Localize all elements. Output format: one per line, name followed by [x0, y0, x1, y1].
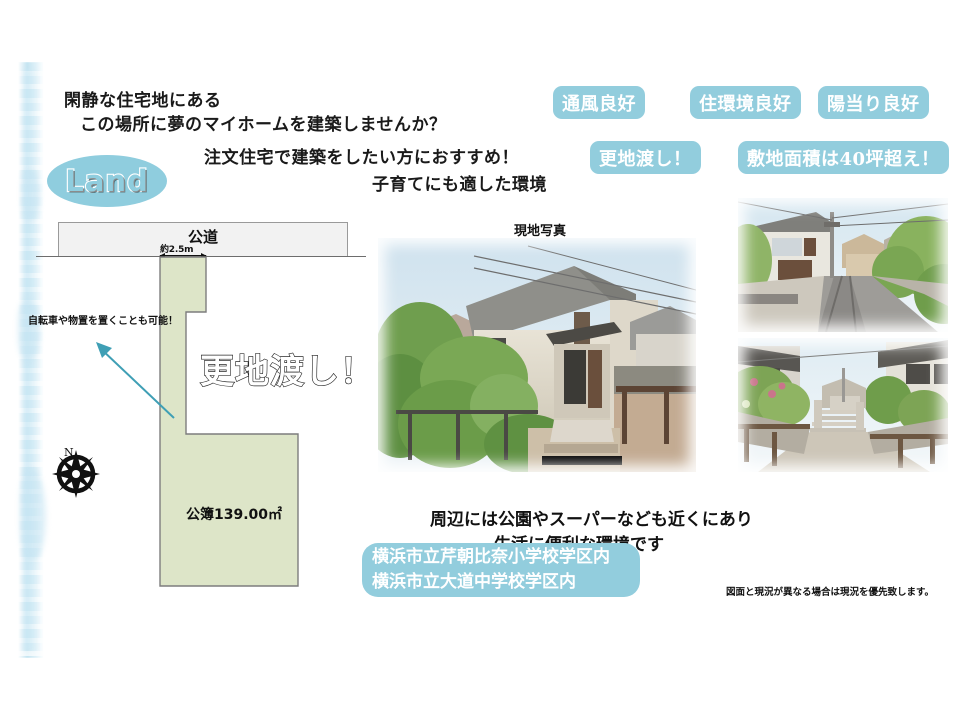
feature-pill-sunlight: 陽当り良好 — [818, 86, 929, 119]
property-flyer-page: 閑静な住宅地にある この場所に夢のマイホームを建築しませんか？ 注文住宅で建築を… — [0, 0, 960, 720]
vacant-land-stamp-text: 更地渡し！ — [200, 344, 375, 393]
compass-rose-icon — [48, 444, 104, 500]
land-logo-text: Land — [65, 164, 148, 198]
land-plot-diagram: 公道 約2.5m 更地渡し！ 公簿139.00㎡ 自転車や物置を置くことも可能！ — [36, 222, 366, 602]
site-photo-caption: 現地写真 — [470, 220, 610, 239]
site-photo-street-bottom — [738, 338, 948, 472]
headline-line-2: この場所に夢のマイホームを建築しませんか？ — [80, 110, 446, 135]
disclaimer-text: 図面と現況が異なる場合は現況を優先致します。 — [726, 584, 934, 598]
feature-pill-vacant-land: 更地渡し！ — [590, 141, 701, 174]
headline-line-1: 閑静な住宅地にある — [64, 86, 222, 111]
bottom-copy-line-1: 周辺には公園やスーパーなども近くにあり — [430, 505, 753, 530]
feature-pill-land-area: 敷地面積は40坪超え！ — [738, 141, 949, 174]
school-district-junior-high: 横浜市立大道中学校学区内 — [372, 570, 640, 595]
feature-pill-environment: 住環境良好 — [690, 86, 801, 119]
registered-area-label: 公簿139.00㎡ — [186, 504, 282, 524]
land-logo-badge: Land — [47, 155, 167, 207]
school-district-badge: 横浜市立芹朝比奈小学校学区内 横浜市立大道中学校学区内 — [362, 543, 640, 597]
site-photo-street-top — [738, 198, 948, 332]
site-photo-main — [378, 238, 696, 472]
school-district-elementary: 横浜市立芹朝比奈小学校学区内 — [372, 545, 640, 570]
feature-pill-ventilation: 通風良好 — [553, 86, 645, 119]
watercolor-blob — [22, 170, 40, 220]
headline-line-4: 子育てにも適した環境 — [372, 170, 547, 195]
headline-line-3: 注文住宅で建築をしたい方におすすめ！ — [204, 143, 519, 168]
note-pointer-arrow-icon — [76, 322, 186, 432]
